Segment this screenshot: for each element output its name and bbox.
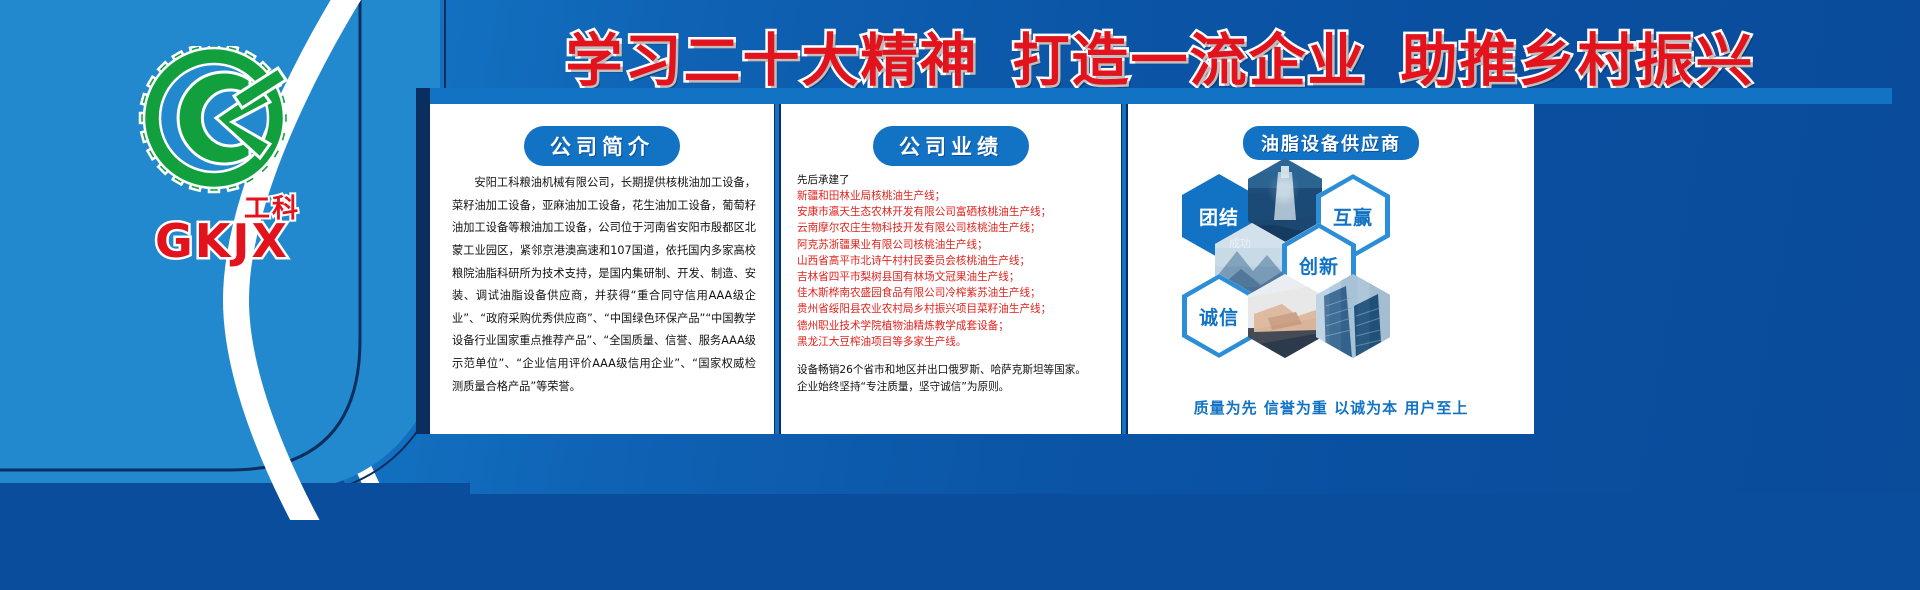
hexagon-cluster: 团结 互赢 <box>1168 166 1498 366</box>
performance-project-list: 新疆和田林业局核桃油生产线； 安康市瀛天生态农林开发有限公司富硒核桃油生产线； … <box>797 188 1111 350</box>
supplier-heading-pill: 油脂设备供应商 <box>1243 126 1419 160</box>
list-item: 云南摩尔农庄生物科技开发有限公司核桃油生产线； <box>797 220 1111 236</box>
title-part-2: 打造一流企业 <box>1013 15 1367 97</box>
hex-label: 互赢 <box>1333 203 1373 230</box>
list-item: 吉林省四平市梨树县国有林场文冠果油生产线； <box>797 269 1111 285</box>
hex-label: 团结 <box>1199 203 1239 230</box>
poster-canvas: 工科 GKJX 学习二十大精神 打造一流企业 助推乡村振兴 公司简介 安阳工科粮… <box>0 0 1920 590</box>
hex-label: 创新 <box>1299 252 1339 279</box>
list-item: 新疆和田林业局核桃油生产线； <box>797 188 1111 204</box>
company-logo-front: 工科 GKJX <box>122 46 322 226</box>
panel-company-intro: 公司简介 安阳工科粮油机械有限公司，长期提供核桃油加工设备，菜籽油加工设备，亚麻… <box>430 104 774 434</box>
list-item: 德州职业技术学院植物油精炼教学成套设备； <box>797 318 1111 334</box>
panel-divider-2 <box>1121 104 1128 434</box>
gear-logo-icon <box>122 46 322 206</box>
intro-body-text: 安阳工科粮油机械有限公司，长期提供核桃油加工设备，菜籽油加工设备，亚麻油加工设备… <box>452 172 756 398</box>
band-top-bar <box>430 88 1892 104</box>
footnote: 企业始终坚持“专注质量，坚守诚信”为原则。 <box>797 379 1111 396</box>
list-item: 安康市瀛天生态农林开发有限公司富硒核桃油生产线； <box>797 204 1111 220</box>
supplier-slogan: 质量为先 信誉为重 以诚为本 用户至上 <box>1128 397 1534 418</box>
intro-heading-pill: 公司简介 <box>524 126 680 166</box>
content-band: 公司简介 安阳工科粮油机械有限公司，长期提供核桃油加工设备，菜籽油加工设备，亚麻… <box>430 104 1892 434</box>
svg-text:成功: 成功 <box>1229 237 1251 250</box>
performance-heading-pill: 公司业绩 <box>873 126 1029 166</box>
list-item: 佳木斯桦南农盛园食品有限公司冷榨紫苏油生产线； <box>797 285 1111 301</box>
list-item: 黑龙江大豆榨油项目等多家生产线。 <box>797 334 1111 350</box>
title-part-1: 学习二十大精神 <box>566 15 979 97</box>
logo-latin-text: GKJX <box>122 214 322 268</box>
title-part-3: 助推乡村振兴 <box>1401 15 1755 97</box>
performance-footnotes: 设备畅销26个省市和地区并出口俄罗斯、哈萨克斯坦等国家。 企业始终坚持“专注质量… <box>797 362 1111 396</box>
list-item: 山西省高平市北诗午村村民委员会核桃油生产线； <box>797 253 1111 269</box>
footnote: 设备畅销26个省市和地区并出口俄罗斯、哈萨克斯坦等国家。 <box>797 362 1111 379</box>
list-item: 贵州省绥阳县农业农村局乡村振兴项目菜籽油生产线； <box>797 301 1111 317</box>
panel-company-performance: 公司业绩 先后承建了 新疆和田林业局核桃油生产线； 安康市瀛天生态农林开发有限公… <box>781 104 1121 434</box>
panel-divider-1 <box>774 104 781 434</box>
panel-supplier: 油脂设备供应商 团结 <box>1128 104 1534 434</box>
list-item: 阿克苏浙疆果业有限公司核桃油生产线； <box>797 237 1111 253</box>
supplier-heading-label: 油脂设备供应商 <box>1261 134 1401 155</box>
hex-label: 诚信 <box>1199 303 1239 330</box>
performance-lead-text: 先后承建了 <box>797 172 850 187</box>
page-title: 学习二十大精神 打造一流企业 助推乡村振兴 <box>430 14 1890 98</box>
performance-heading-label: 公司业绩 <box>899 135 1003 159</box>
intro-heading-label: 公司简介 <box>550 135 654 159</box>
